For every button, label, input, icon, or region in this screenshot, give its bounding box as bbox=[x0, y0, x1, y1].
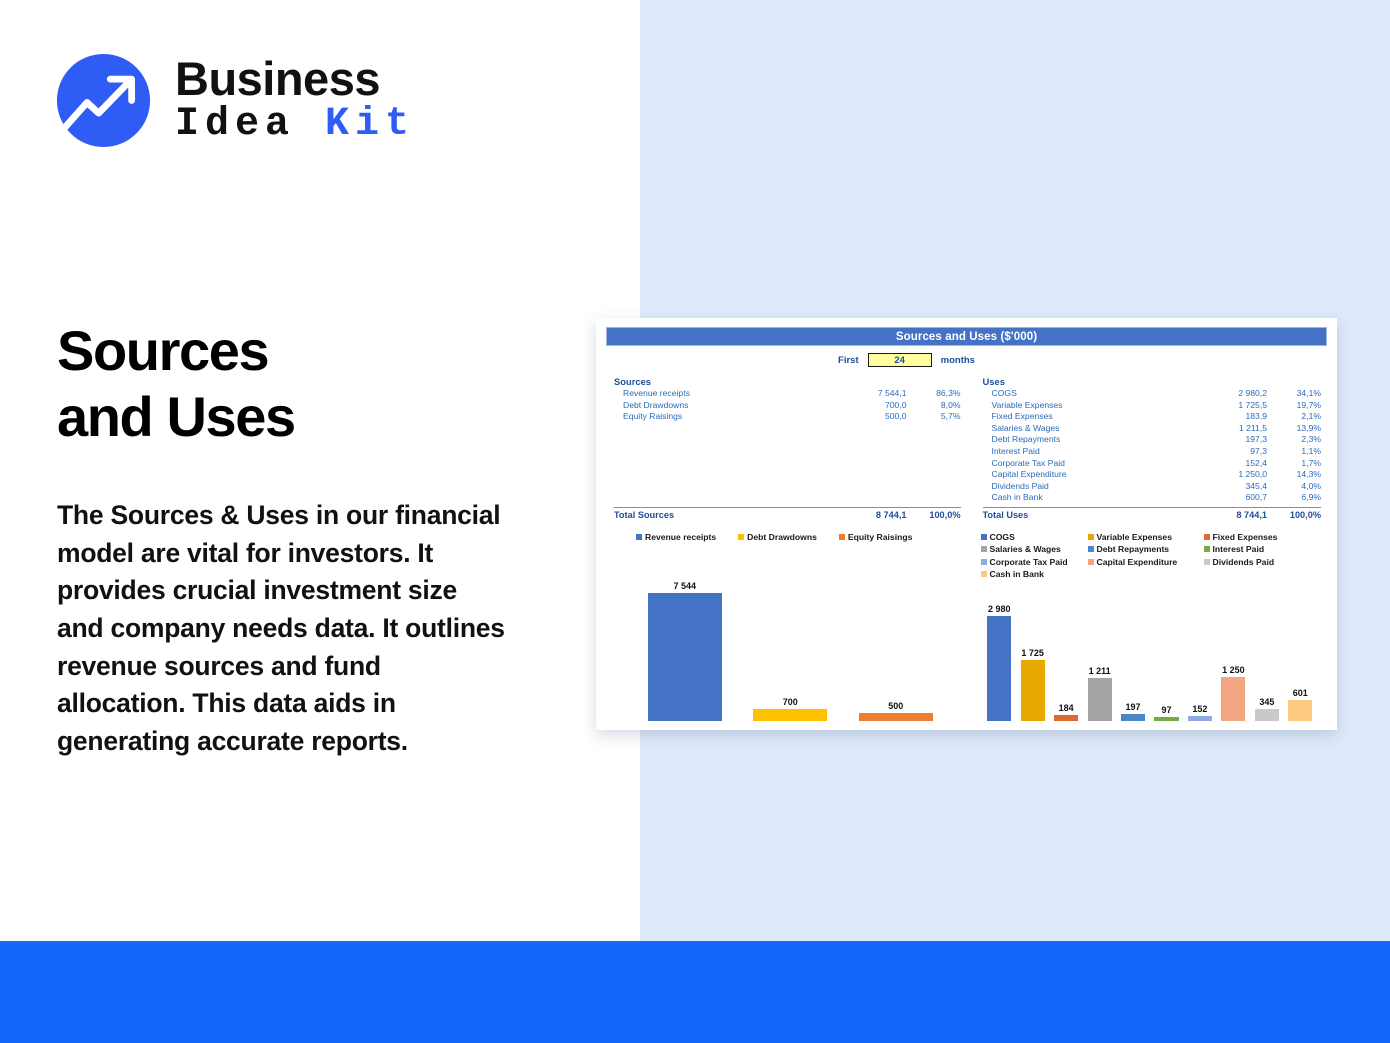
uses-bar-group: 197 bbox=[1116, 566, 1149, 721]
legend-swatch-icon bbox=[1088, 534, 1094, 540]
uses-legend-label: Debt Repayments bbox=[1097, 544, 1170, 554]
sources-row-pct: 5,7% bbox=[907, 411, 961, 423]
uses-row-value: 152,4 bbox=[1193, 458, 1267, 470]
uses-bar-value-label: 2 980 bbox=[988, 604, 1011, 614]
sources-bar-group: 7 544 bbox=[632, 566, 738, 721]
uses-bar-value-label: 601 bbox=[1293, 688, 1308, 698]
brand-name-accent: Kit bbox=[325, 102, 415, 147]
sources-total-label: Total Sources bbox=[614, 510, 833, 522]
uses-bar-value-label: 152 bbox=[1192, 704, 1207, 714]
uses-bar-chart: 2 9801 7251841 211197971521 250345601 bbox=[967, 566, 1328, 730]
sources-row-label: Equity Raisings bbox=[614, 411, 833, 423]
table-row: Debt Drawdowns700,08,0% bbox=[614, 400, 961, 412]
financial-tables: Sources Revenue receipts7 544,186,3%Debt… bbox=[606, 376, 1327, 522]
sources-legend-label: Debt Drawdowns bbox=[747, 532, 817, 542]
uses-row-label: Corporate Tax Paid bbox=[983, 458, 1194, 470]
table-row: Dividends Paid345,44,0% bbox=[983, 481, 1322, 493]
uses-row-value: 345,4 bbox=[1193, 481, 1267, 493]
uses-row-pct: 2,1% bbox=[1267, 411, 1321, 423]
legend-swatch-icon bbox=[981, 534, 987, 540]
table-row: Corporate Tax Paid152,41,7% bbox=[983, 458, 1322, 470]
uses-row-label: Interest Paid bbox=[983, 446, 1194, 458]
sources-bar-value-label: 700 bbox=[783, 697, 798, 707]
uses-legend-label: Variable Expenses bbox=[1097, 532, 1172, 542]
uses-total-value: 8 744,1 bbox=[1193, 510, 1267, 522]
table-row: Revenue receipts7 544,186,3% bbox=[614, 388, 961, 400]
brand-name-secondary: Idea bbox=[175, 102, 325, 147]
uses-row-label: Cash in Bank bbox=[983, 492, 1194, 504]
uses-legend-label: Interest Paid bbox=[1213, 544, 1265, 554]
table-row: Salaries & Wages1 211,513,9% bbox=[983, 423, 1322, 435]
legend-swatch-icon bbox=[738, 534, 744, 540]
uses-row-pct: 2,3% bbox=[1267, 434, 1321, 446]
sources-total-pct: 100,0% bbox=[907, 510, 961, 522]
sources-bar[interactable] bbox=[648, 593, 722, 721]
legend-swatch-icon bbox=[1088, 559, 1094, 565]
uses-row-label: COGS bbox=[983, 388, 1194, 400]
uses-row-value: 600,7 bbox=[1193, 492, 1267, 504]
sources-row-pct: 86,3% bbox=[907, 388, 961, 400]
months-input[interactable]: 24 bbox=[868, 353, 932, 367]
sources-bar-value-label: 7 544 bbox=[673, 581, 696, 591]
legend-swatch-icon bbox=[1204, 546, 1210, 552]
uses-bar-group: 97 bbox=[1150, 566, 1183, 721]
sources-bar[interactable] bbox=[753, 709, 827, 721]
uses-bar[interactable] bbox=[1221, 677, 1245, 721]
uses-bar[interactable] bbox=[1021, 660, 1045, 721]
table-row: Equity Raisings500,05,7% bbox=[614, 411, 961, 423]
uses-legend-item[interactable]: Interest Paid bbox=[1204, 544, 1328, 554]
uses-bar-group: 184 bbox=[1049, 566, 1082, 721]
period-prefix-label: First bbox=[838, 355, 859, 366]
legend-swatch-icon bbox=[1204, 559, 1210, 565]
sources-table: Sources Revenue receipts7 544,186,3%Debt… bbox=[606, 376, 967, 522]
uses-bar[interactable] bbox=[1154, 717, 1178, 721]
uses-row-label: Capital Expenditure bbox=[983, 469, 1194, 481]
uses-row-value: 1 725,5 bbox=[1193, 400, 1267, 412]
uses-row-pct: 1,1% bbox=[1267, 446, 1321, 458]
uses-row-label: Fixed Expenses bbox=[983, 411, 1194, 423]
uses-bar-value-label: 97 bbox=[1161, 705, 1171, 715]
sources-bar-group: 500 bbox=[843, 566, 949, 721]
uses-bar-group: 1 211 bbox=[1083, 566, 1116, 721]
uses-bar[interactable] bbox=[1121, 714, 1145, 721]
uses-bar-group: 152 bbox=[1183, 566, 1216, 721]
page-title: Sources and Uses bbox=[57, 318, 577, 450]
uses-bar-group: 345 bbox=[1250, 566, 1283, 721]
sources-bar-group: 700 bbox=[738, 566, 844, 721]
sources-legend-item[interactable]: Revenue receipts bbox=[636, 532, 716, 542]
uses-legend-item[interactable]: COGS bbox=[981, 532, 1088, 542]
brand-logo: Business Idea Kit bbox=[55, 52, 415, 149]
uses-row-label: Variable Expenses bbox=[983, 400, 1194, 412]
sources-bar-chart: 7 544700500 bbox=[606, 566, 967, 730]
uses-row-pct: 1,7% bbox=[1267, 458, 1321, 470]
uses-bar-group: 1 725 bbox=[1016, 566, 1049, 721]
uses-row-value: 197,3 bbox=[1193, 434, 1267, 446]
legend-swatch-icon bbox=[636, 534, 642, 540]
table-row: COGS2 980,234,1% bbox=[983, 388, 1322, 400]
uses-row-label: Dividends Paid bbox=[983, 481, 1194, 493]
uses-bar-value-label: 1 725 bbox=[1021, 648, 1044, 658]
uses-legend-item[interactable]: Debt Repayments bbox=[1088, 544, 1204, 554]
sources-total-row: Total Sources 8 744,1 100,0% bbox=[614, 508, 961, 522]
uses-bar[interactable] bbox=[1288, 700, 1312, 721]
table-row: Fixed Expenses183,92,1% bbox=[983, 411, 1322, 423]
uses-legend-label: Fixed Expenses bbox=[1213, 532, 1278, 542]
uses-table: Uses COGS2 980,234,1%Variable Expenses1 … bbox=[967, 376, 1328, 522]
uses-row-value: 183,9 bbox=[1193, 411, 1267, 423]
spreadsheet-screenshot-card: Sources and Uses ($'000) First 24 months… bbox=[596, 318, 1337, 730]
charts-area: 7 544700500 2 9801 7251841 211197971521 … bbox=[606, 566, 1327, 730]
uses-bar-value-label: 184 bbox=[1059, 703, 1074, 713]
uses-row-pct: 4,0% bbox=[1267, 481, 1321, 493]
uses-bar-group: 601 bbox=[1284, 566, 1317, 721]
sources-row-value: 500,0 bbox=[833, 411, 907, 423]
sources-legend-label: Revenue receipts bbox=[645, 532, 716, 542]
uses-row-value: 1 211,5 bbox=[1193, 423, 1267, 435]
uses-bar-value-label: 1 250 bbox=[1222, 665, 1245, 675]
uses-total-pct: 100,0% bbox=[1267, 510, 1321, 522]
brand-name-primary: Business bbox=[175, 55, 415, 102]
uses-row-pct: 34,1% bbox=[1267, 388, 1321, 400]
uses-row-pct: 13,9% bbox=[1267, 423, 1321, 435]
uses-total-label: Total Uses bbox=[983, 510, 1194, 522]
uses-legend-item[interactable]: Salaries & Wages bbox=[981, 544, 1088, 554]
sources-header: Sources bbox=[614, 376, 961, 387]
uses-bar[interactable] bbox=[1088, 678, 1112, 721]
legend-swatch-icon bbox=[1088, 546, 1094, 552]
page-description: The Sources & Uses in our financial mode… bbox=[57, 497, 507, 760]
table-row: Interest Paid97,31,1% bbox=[983, 446, 1322, 458]
uses-legend-label: COGS bbox=[990, 532, 1015, 542]
uses-row-pct: 19,7% bbox=[1267, 400, 1321, 412]
sources-row-pct: 8,0% bbox=[907, 400, 961, 412]
legend-swatch-icon bbox=[981, 559, 987, 565]
slide-page: Business Idea Kit Sources and Uses The S… bbox=[0, 0, 1390, 1043]
uses-bar-value-label: 197 bbox=[1126, 702, 1141, 712]
table-row: Variable Expenses1 725,519,7% bbox=[983, 400, 1322, 412]
uses-legend-label: Salaries & Wages bbox=[990, 544, 1061, 554]
legend-swatch-icon bbox=[839, 534, 845, 540]
growth-arrow-circle-icon bbox=[55, 52, 152, 149]
uses-total-row: Total Uses 8 744,1 100,0% bbox=[983, 508, 1322, 522]
legend-swatch-icon bbox=[981, 546, 987, 552]
uses-bar[interactable] bbox=[987, 616, 1011, 721]
sheet-title-bar: Sources and Uses ($'000) bbox=[606, 327, 1327, 346]
sources-row-label: Debt Drawdowns bbox=[614, 400, 833, 412]
uses-row-value: 1 250,0 bbox=[1193, 469, 1267, 481]
uses-legend-item[interactable]: Variable Expenses bbox=[1088, 532, 1204, 542]
uses-row-pct: 14,3% bbox=[1267, 469, 1321, 481]
sources-legend-item[interactable]: Equity Raisings bbox=[839, 532, 912, 542]
uses-bar-value-label: 345 bbox=[1259, 697, 1274, 707]
sources-legend-label: Equity Raisings bbox=[848, 532, 912, 542]
uses-bar-value-label: 1 211 bbox=[1089, 666, 1111, 676]
legend-swatch-icon bbox=[1204, 534, 1210, 540]
sources-total-value: 8 744,1 bbox=[833, 510, 907, 522]
table-row: Cash in Bank600,76,9% bbox=[983, 492, 1322, 504]
sources-legend-item[interactable]: Debt Drawdowns bbox=[738, 532, 817, 542]
table-row: Capital Expenditure1 250,014,3% bbox=[983, 469, 1322, 481]
sources-row-value: 700,0 bbox=[833, 400, 907, 412]
sources-bar[interactable] bbox=[859, 713, 933, 721]
uses-row-value: 97,3 bbox=[1193, 446, 1267, 458]
uses-header: Uses bbox=[983, 376, 1322, 387]
uses-bar-group: 1 250 bbox=[1217, 566, 1250, 721]
uses-row-pct: 6,9% bbox=[1267, 492, 1321, 504]
uses-bar[interactable] bbox=[1255, 709, 1279, 721]
uses-row-value: 2 980,2 bbox=[1193, 388, 1267, 400]
uses-bar[interactable] bbox=[1054, 715, 1078, 721]
footer-bar bbox=[0, 941, 1390, 1043]
sources-row-value: 7 544,1 bbox=[833, 388, 907, 400]
sources-bar-value-label: 500 bbox=[888, 701, 903, 711]
uses-row-label: Salaries & Wages bbox=[983, 423, 1194, 435]
period-selector-row: First 24 months bbox=[606, 353, 1327, 367]
table-row: Debt Repayments197,32,3% bbox=[983, 434, 1322, 446]
uses-bar[interactable] bbox=[1188, 716, 1212, 721]
uses-legend-item[interactable]: Fixed Expenses bbox=[1204, 532, 1328, 542]
sources-row-label: Revenue receipts bbox=[614, 388, 833, 400]
uses-row-label: Debt Repayments bbox=[983, 434, 1194, 446]
uses-bar-group: 2 980 bbox=[983, 566, 1016, 721]
period-suffix-label: months bbox=[941, 355, 975, 366]
